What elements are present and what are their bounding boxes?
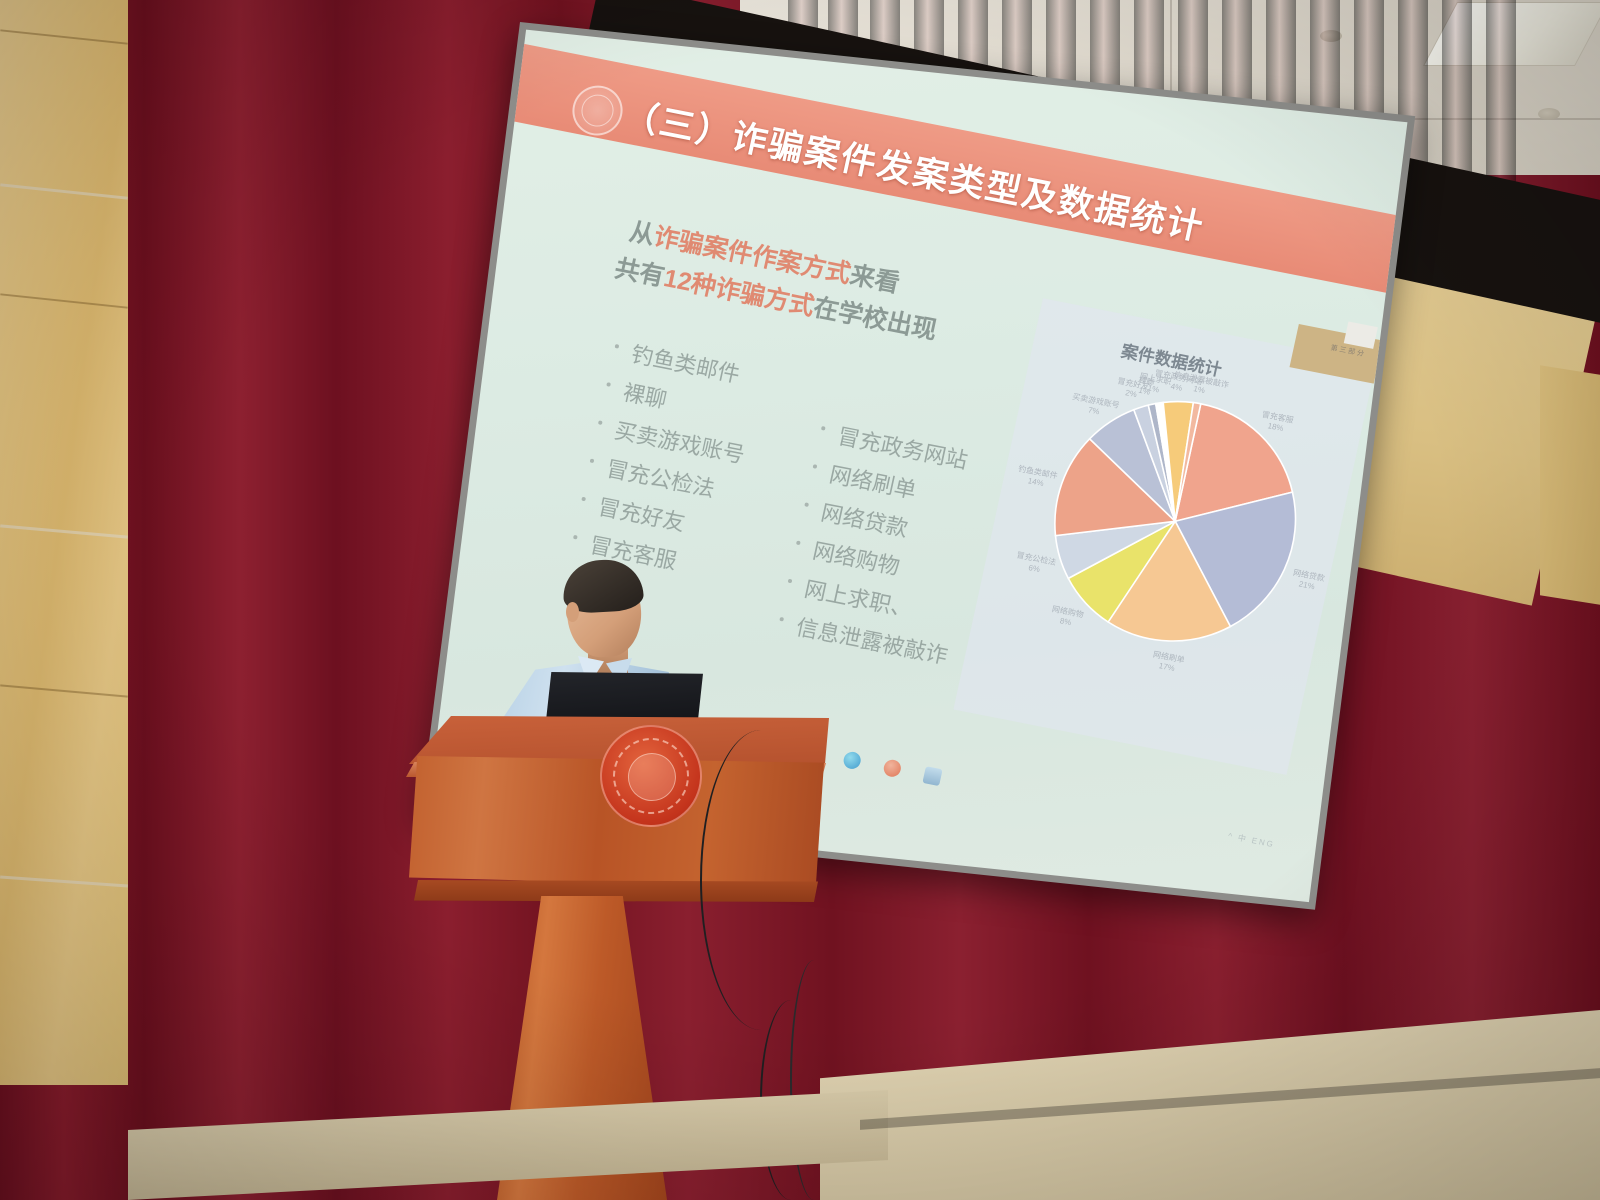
edge-browser-icon[interactable] (842, 750, 862, 770)
system-tray[interactable]: ^ 中 ENG (1227, 830, 1276, 850)
wood-trim-right (1540, 365, 1600, 605)
case-statistics-chart: 第 三 部 分 案件数据统计 冒充客服 18%网络贷款 21%网络刷单 17%网… (960, 316, 1373, 791)
record-icon[interactable] (882, 758, 902, 778)
subtitle-plain-b: 来看 (847, 261, 902, 298)
wood-panel-wall-left (0, 0, 128, 1085)
subtitle-plain-a: 共有 (612, 254, 667, 291)
fraud-type-list-left: 钓鱼类邮件 裸聊 买卖游戏账号 冒充公检法 冒充好友 冒充客服 (564, 332, 765, 591)
presenter-ear (566, 602, 579, 622)
fraud-type-list-right: 冒充政务网站 网络刷单 网络贷款 网络购物 网上求职、 信息泄露被敲诈 (770, 414, 992, 677)
subtitle-plain-b: 在学校出现 (811, 293, 939, 344)
photo-scene: （三）诈骗案件发案类型及数据统计 从诈骗案件作案方式来看 共有12种诈骗方式在学… (0, 0, 1600, 1200)
emblem-center-icon (627, 752, 677, 802)
photos-icon[interactable] (922, 766, 942, 786)
